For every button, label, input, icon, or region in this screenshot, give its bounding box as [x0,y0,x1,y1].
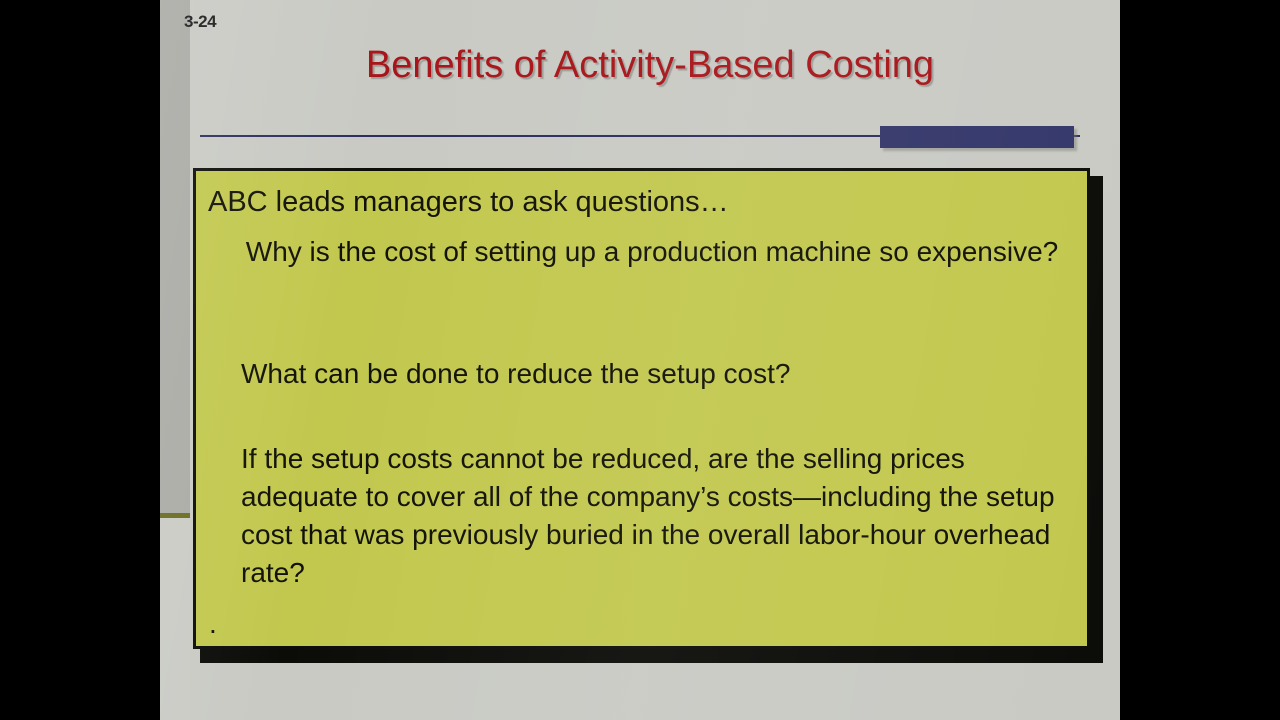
title-divider-block [880,126,1074,148]
slide-viewer: 3-24 Benefits of Activity-Based Costing … [0,0,1280,720]
page-title: Benefits of Activity-Based Costing [200,44,1100,88]
left-band-lower-fill [160,518,190,720]
letterbox-right [1120,0,1280,720]
left-decorative-band [160,0,190,513]
content-question-1: Why is the cost of setting up a producti… [238,233,1068,271]
content-trailing-mark: . [209,619,217,629]
slide-number: 3-24 [184,12,216,32]
letterbox-left [0,0,160,720]
content-heading: ABC leads managers to ask questions… [208,183,1078,221]
presentation-slide: 3-24 Benefits of Activity-Based Costing … [160,0,1120,720]
content-question-3: If the setup costs cannot be reduced, ar… [241,440,1081,592]
content-question-2: What can be done to reduce the setup cos… [241,355,1071,393]
content-box: ABC leads managers to ask questions… Why… [193,168,1090,649]
